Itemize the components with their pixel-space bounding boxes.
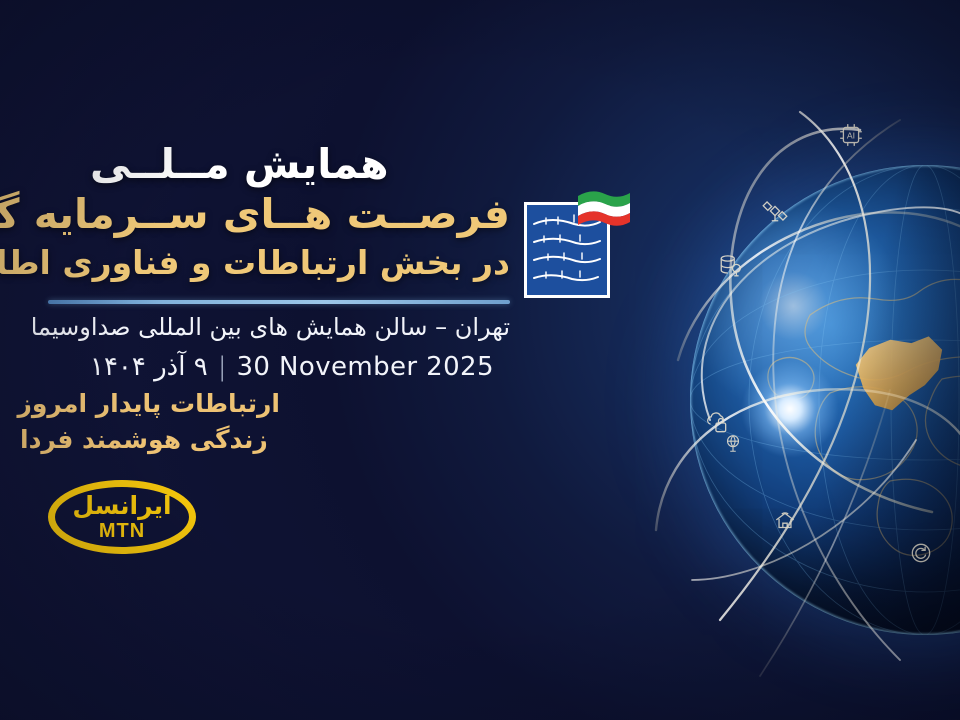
globe-landmasses (690, 165, 960, 635)
refresh-cycle-icon (908, 540, 934, 566)
date-gregorian: 30 November 2025 (236, 352, 493, 382)
svg-text:AI: AI (847, 130, 855, 140)
satellite-icon (762, 198, 788, 224)
globe-shadow (690, 165, 960, 635)
venue-text: تهران – سالن همایش های بین المللی صداوسی… (90, 313, 510, 341)
slogan-line-2: زندگی هوشمند فردا (20, 425, 280, 454)
conference-poster: AI (0, 0, 960, 720)
logo-latin-text: MTN (48, 521, 196, 541)
globe-sphere (690, 165, 960, 635)
network-node-icon (722, 432, 744, 454)
date-separator: | (208, 352, 237, 382)
slogan-line-1: ارتباطات پایدار امروز (20, 389, 280, 418)
sun-glow (742, 361, 838, 457)
cloud-lock-icon (704, 410, 730, 436)
section-divider (48, 300, 510, 304)
globe (690, 165, 960, 635)
irancell-mtn-logo: ایرانسل MTN (48, 480, 196, 554)
logo-persian-text: ایرانسل (48, 493, 196, 518)
iran-flag-icon (576, 188, 632, 228)
page-title-line-2: در بخش ارتباطات و فناوری اطلاعات (90, 243, 510, 282)
date-jalali: ۹ آذر ۱۴۰۴ (90, 352, 208, 382)
iran-highlight (850, 333, 946, 417)
server-database-icon (718, 252, 744, 278)
page-title-national: همایش مــلــی (90, 140, 510, 188)
ministry-of-ict-emblem (524, 188, 628, 298)
date-line: 30 November 2025|۹ آذر ۱۴۰۴ (90, 352, 510, 382)
poster-content: همایش مــلــی فرصــت هــای ســرمایه گــذ… (0, 0, 660, 720)
globe-grid (690, 165, 960, 635)
ai-chip-icon: AI (838, 122, 864, 148)
globe-atmosphere-rim (690, 165, 960, 635)
page-title-line-1: فرصــت هــای ســرمایه گــذاری (90, 190, 510, 238)
smart-home-icon (772, 508, 798, 534)
